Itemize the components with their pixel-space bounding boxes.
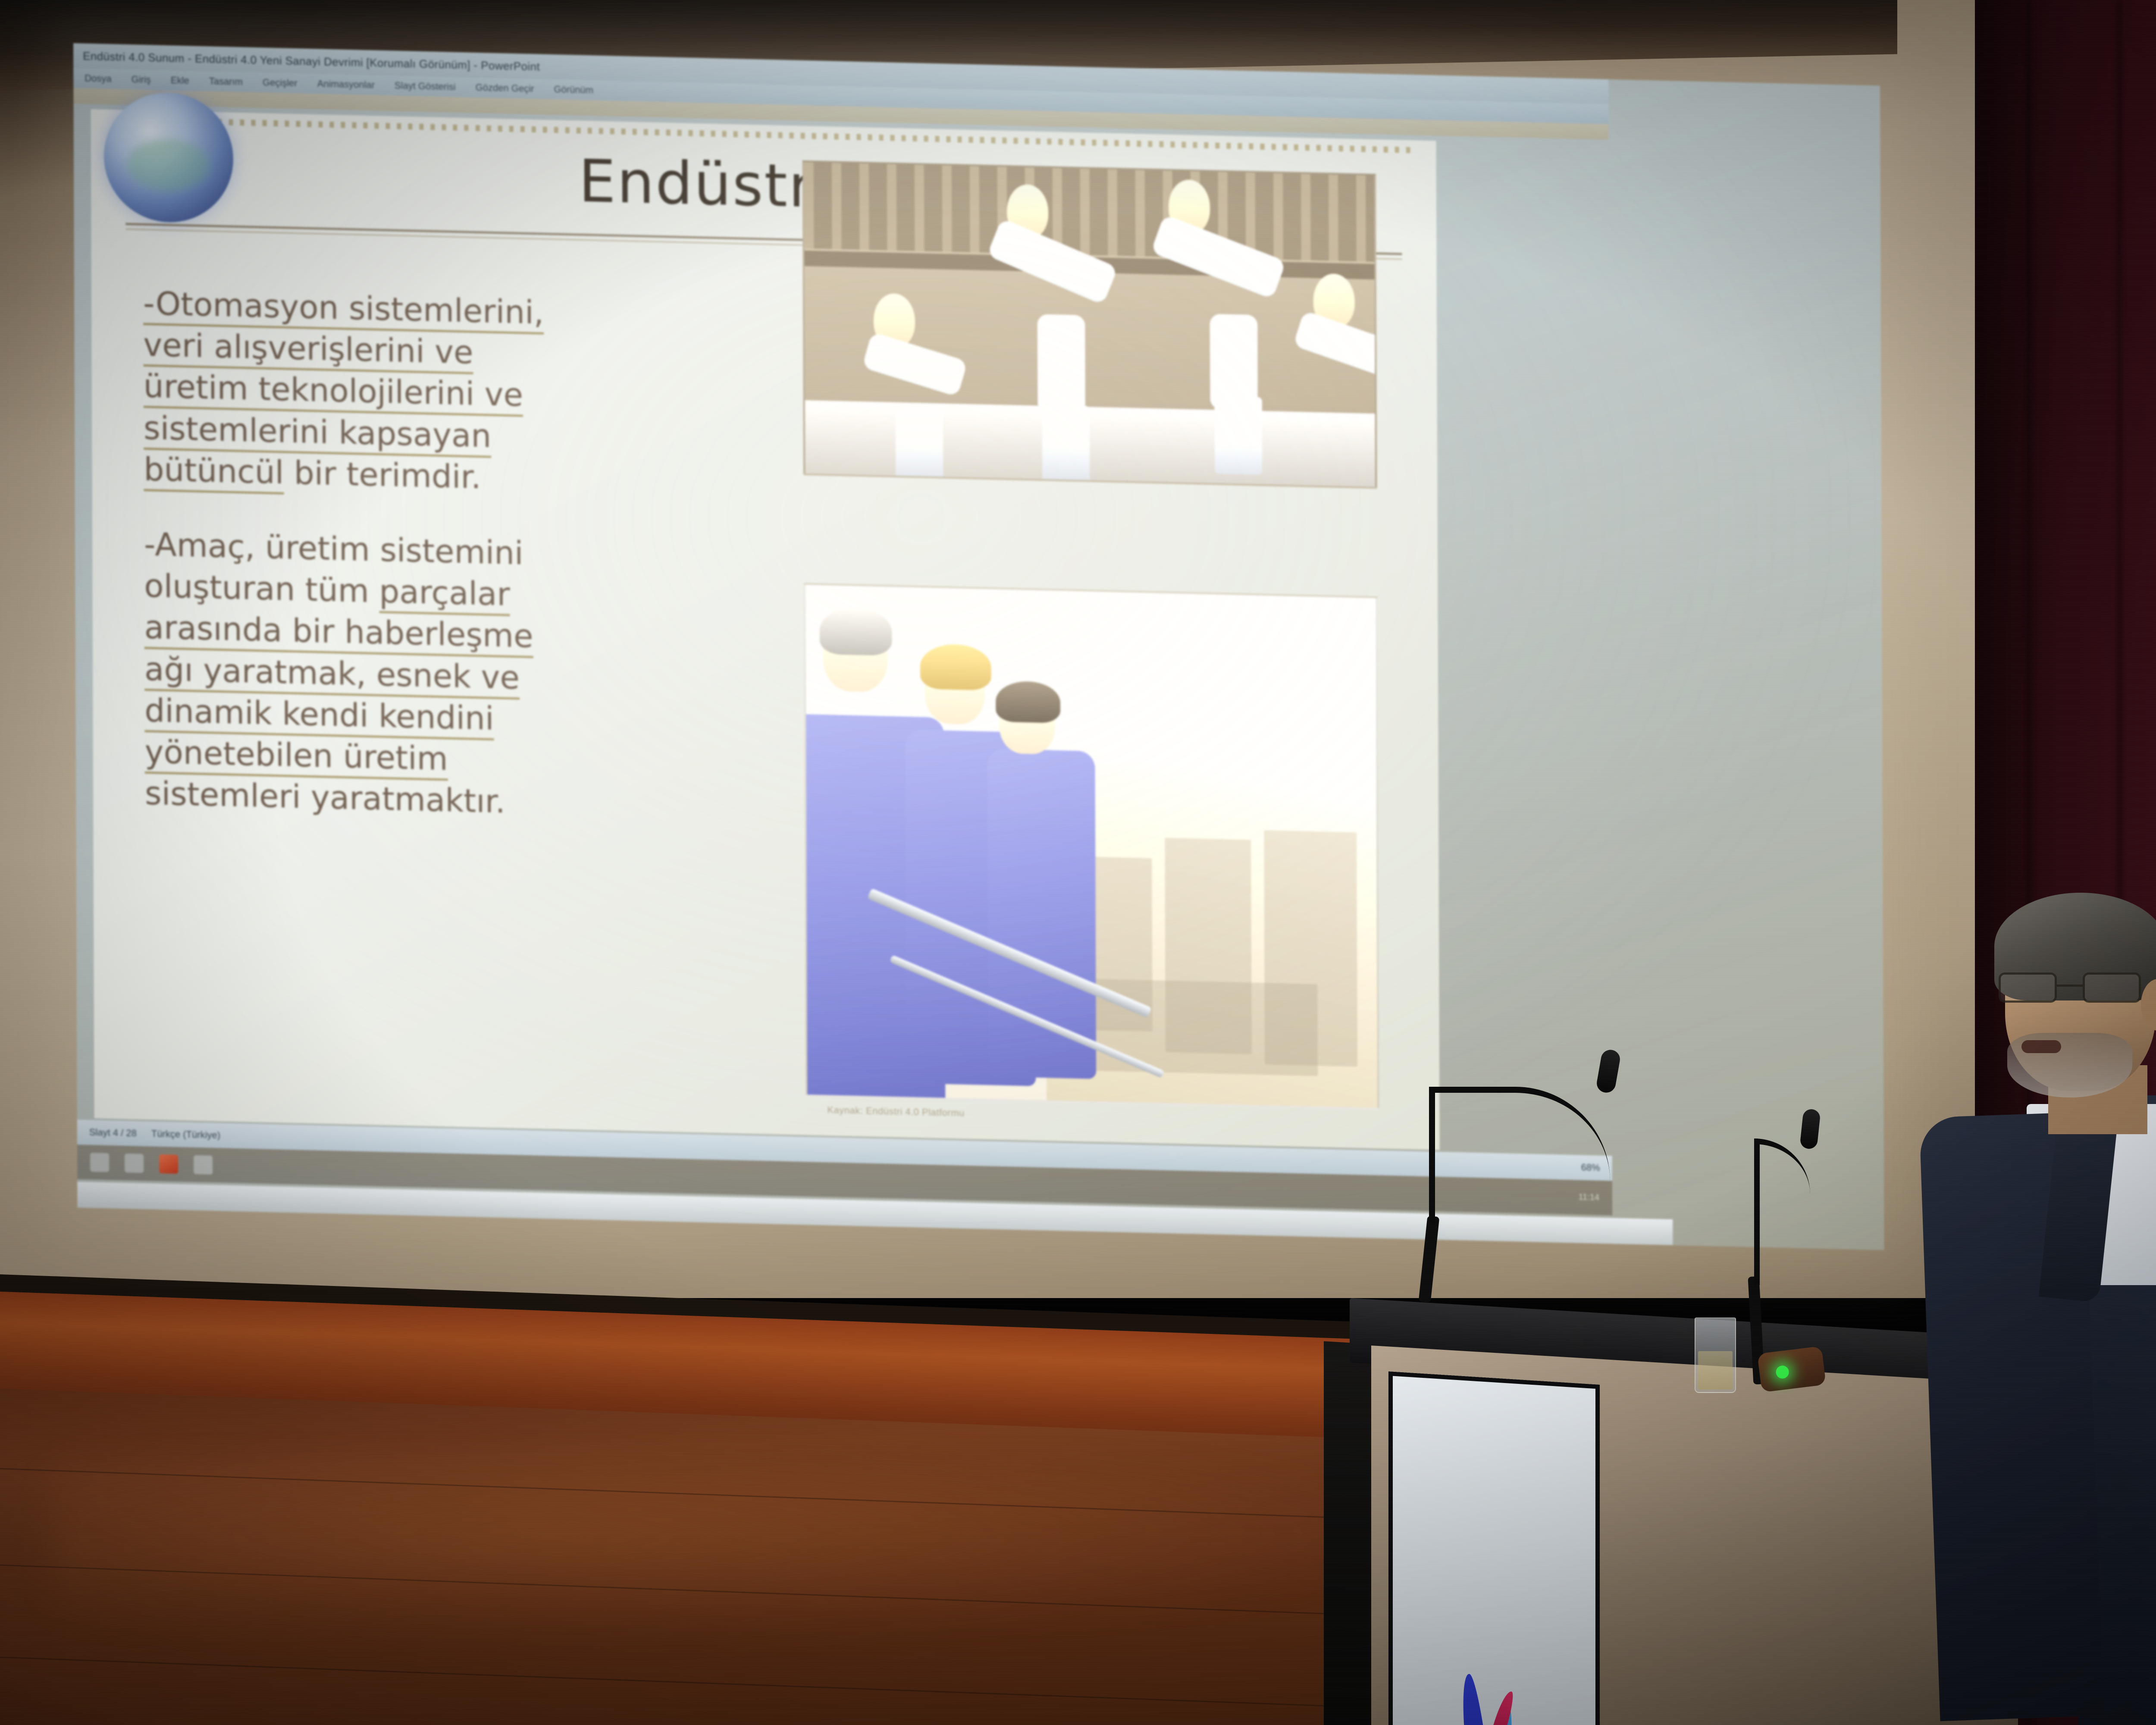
menu-item-gozden-gecir[interactable]: Gözden Geçir — [476, 82, 534, 94]
slide-source-credit: Kaynak: Endüstri 4.0 Platformu — [827, 1104, 964, 1119]
eyeglasses — [1999, 972, 2141, 1003]
p1-line-1: -Otomasyon sistemlerini, — [143, 285, 544, 335]
p2-line-1: -Amaç, üretim sistemini — [144, 526, 523, 572]
floor-light-reflection — [52, 1462, 1475, 1643]
browser-icon[interactable] — [194, 1155, 213, 1175]
menu-item-ekle[interactable]: Ekle — [171, 75, 189, 86]
slide-number-indicator[interactable]: Slayt 4 / 28 — [89, 1127, 137, 1139]
podium-logo-panel — [1388, 1371, 1600, 1725]
eyeglass-lens-right — [2083, 972, 2141, 1003]
p1-line-5b: bir terimdir. — [284, 454, 481, 496]
folder-icon[interactable] — [125, 1154, 144, 1173]
p2-line-3: arasında bir haberleşme — [144, 609, 533, 658]
slide-paragraph-1: -Otomasyon sistemlerini, veri alışverişl… — [143, 283, 614, 502]
eyeglass-lens-left — [1999, 972, 2057, 1003]
p2-line-5: dinamik kendi kendini — [144, 692, 494, 740]
menu-item-tasarim[interactable]: Tasarım — [209, 75, 243, 88]
slide-image-factory-visit — [804, 583, 1379, 1110]
mouth — [2021, 1040, 2061, 1053]
menu-item-dosya[interactable]: Dosya — [85, 73, 111, 85]
p2-line-2b: parçalar — [379, 573, 510, 616]
p2-line-4: ağı yaratmak, esnek ve — [144, 650, 520, 699]
menu-item-animasyonlar[interactable]: Animasyonlar — [317, 78, 375, 91]
slide-body-text: -Otomasyon sistemlerini, veri alışverişl… — [143, 283, 615, 859]
menu-item-gorunum[interactable]: Görünüm — [554, 84, 593, 96]
p2-line-2a: oluşturan tüm — [144, 568, 379, 610]
clicker-led-indicator — [1775, 1365, 1789, 1379]
flame-logo-blue-stroke — [1457, 1674, 1492, 1725]
p2-line-7: sistemleri yaratmaktır. — [145, 775, 505, 821]
menu-item-slayt-gosterisi[interactable]: Slayt Gösterisi — [395, 80, 456, 93]
p1-line-2: veri alışverişlerini ve — [143, 326, 473, 374]
p1-line-3: üretim teknolojilerini ve — [144, 368, 523, 417]
p1-line-4: sistemlerini kapsayan — [144, 409, 491, 458]
menu-item-gecisler[interactable]: Geçişler — [263, 77, 298, 89]
speaker-person — [1906, 880, 2156, 1725]
powerpoint-icon[interactable] — [159, 1154, 178, 1174]
slide-image-robot-arms — [802, 160, 1377, 489]
conference-hall-scene: Endüstri 4.0 Sunum - Endüstri 4.0 Yeni S… — [0, 0, 2156, 1725]
water-glass — [1695, 1317, 1736, 1393]
flame-logo-red-stroke — [1489, 1688, 1517, 1725]
presentation-clicker[interactable] — [1757, 1346, 1826, 1393]
language-indicator[interactable]: Türkçe (Türkiye) — [151, 1128, 220, 1141]
eyeglass-bridge — [2057, 985, 2083, 987]
slide-canvas: Endüstri 4.0 -Otomasyon sistemlerini, ve… — [91, 109, 1440, 1150]
slide-paragraph-2: -Amaç, üretim sistemini oluşturan tüm pa… — [144, 524, 615, 825]
p2-line-6: yönetebilen üretim — [145, 734, 448, 781]
windows-start-icon[interactable] — [90, 1153, 109, 1172]
menu-item-giris[interactable]: Giriş — [132, 74, 151, 85]
p1-line-5a: bütüncül — [144, 451, 284, 495]
